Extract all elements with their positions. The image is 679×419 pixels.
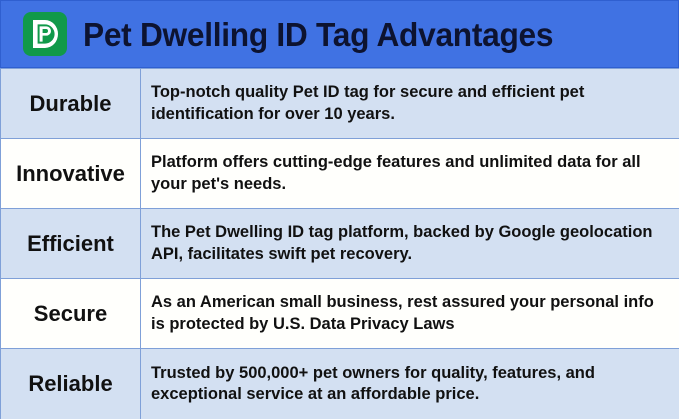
header-band: Pet Dwelling ID Tag Advantages (0, 0, 679, 68)
advantage-term: Efficient (1, 209, 141, 279)
pet-dwelling-pd-monogram-icon (23, 12, 67, 56)
page-title: Pet Dwelling ID Tag Advantages (83, 18, 553, 51)
advantage-description: Platform offers cutting-edge features an… (141, 139, 679, 209)
advantage-description: As an American small business, rest assu… (141, 279, 679, 349)
advantage-description: Top-notch quality Pet ID tag for secure … (141, 69, 679, 139)
advantage-term: Durable (1, 69, 141, 139)
table-row: Efficient The Pet Dwelling ID tag platfo… (1, 209, 679, 279)
table-row: Reliable Trusted by 500,000+ pet owners … (1, 349, 679, 419)
table-row: Innovative Platform offers cutting-edge … (1, 139, 679, 209)
advantage-term: Innovative (1, 139, 141, 209)
advantages-table-body: Durable Top-notch quality Pet ID tag for… (1, 69, 679, 419)
table-row: Secure As an American small business, re… (1, 279, 679, 349)
advantage-term: Secure (1, 279, 141, 349)
advantage-description: Trusted by 500,000+ pet owners for quali… (141, 349, 679, 419)
advantage-description: The Pet Dwelling ID tag platform, backed… (141, 209, 679, 279)
advantages-table: Durable Top-notch quality Pet ID tag for… (0, 68, 679, 419)
infographic-root: Pet Dwelling ID Tag Advantages Durable T… (0, 0, 679, 419)
table-row: Durable Top-notch quality Pet ID tag for… (1, 69, 679, 139)
advantage-term: Reliable (1, 349, 141, 419)
